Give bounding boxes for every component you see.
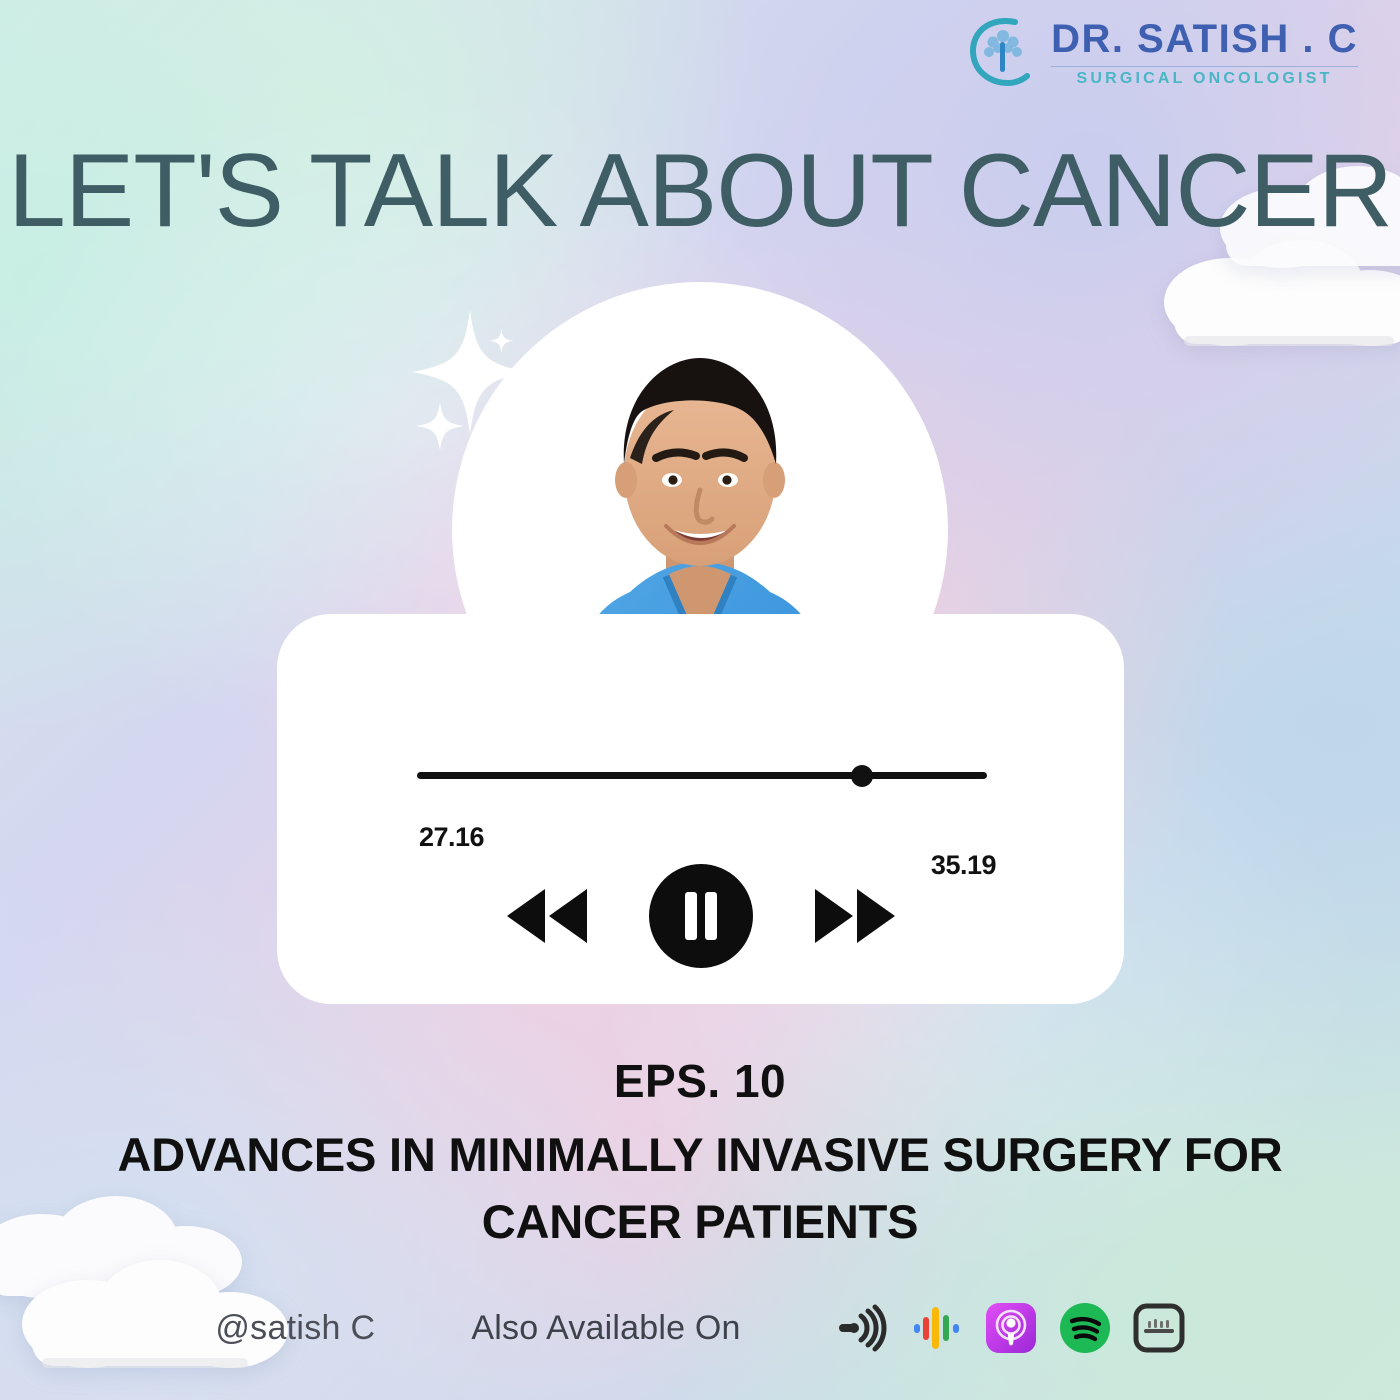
logo-name: DR. SATISH . C: [1051, 19, 1358, 59]
episode-title: ADVANCES IN MINIMALLY INVASIVE SURGERY F…: [0, 1122, 1400, 1255]
platform-icons: [837, 1302, 1185, 1354]
elapsed-time: 27.16: [419, 822, 484, 853]
progress-slider[interactable]: [417, 772, 987, 779]
podcast-cover-poster: DR. SATISH . C SURGICAL ONCOLOGIST LET'S…: [0, 0, 1400, 1400]
brand-logo: DR. SATISH . C SURGICAL ONCOLOGIST: [965, 14, 1358, 92]
forward-button[interactable]: [809, 885, 901, 947]
pause-button[interactable]: [649, 864, 753, 968]
tree-swoosh-icon: [965, 14, 1037, 92]
logo-divider: [1051, 66, 1358, 67]
player-controls: [277, 864, 1124, 968]
show-title: LET'S TALK ABOUT CANCER: [0, 132, 1400, 251]
player-card: 27.16 35.19: [277, 614, 1124, 1004]
progress-track[interactable]: [417, 772, 987, 779]
spotify-icon[interactable]: [1059, 1302, 1111, 1354]
apple-podcasts-icon[interactable]: [985, 1302, 1037, 1354]
social-handle: @satish C: [215, 1309, 375, 1348]
amazon-music-icon[interactable]: [837, 1302, 889, 1354]
available-on-label: Also Available On: [471, 1309, 740, 1348]
episode-number: EPS. 10: [0, 1054, 1400, 1108]
progress-thumb[interactable]: [851, 765, 873, 787]
logo-subtitle: SURGICAL ONCOLOGIST: [1076, 71, 1332, 87]
google-podcasts-icon[interactable]: [911, 1302, 963, 1354]
castbox-icon[interactable]: [1133, 1302, 1185, 1354]
footer: @satish C Also Available On: [0, 1302, 1400, 1354]
rewind-button[interactable]: [501, 885, 593, 947]
audio-player: 27.16 35.19: [0, 282, 1400, 1042]
